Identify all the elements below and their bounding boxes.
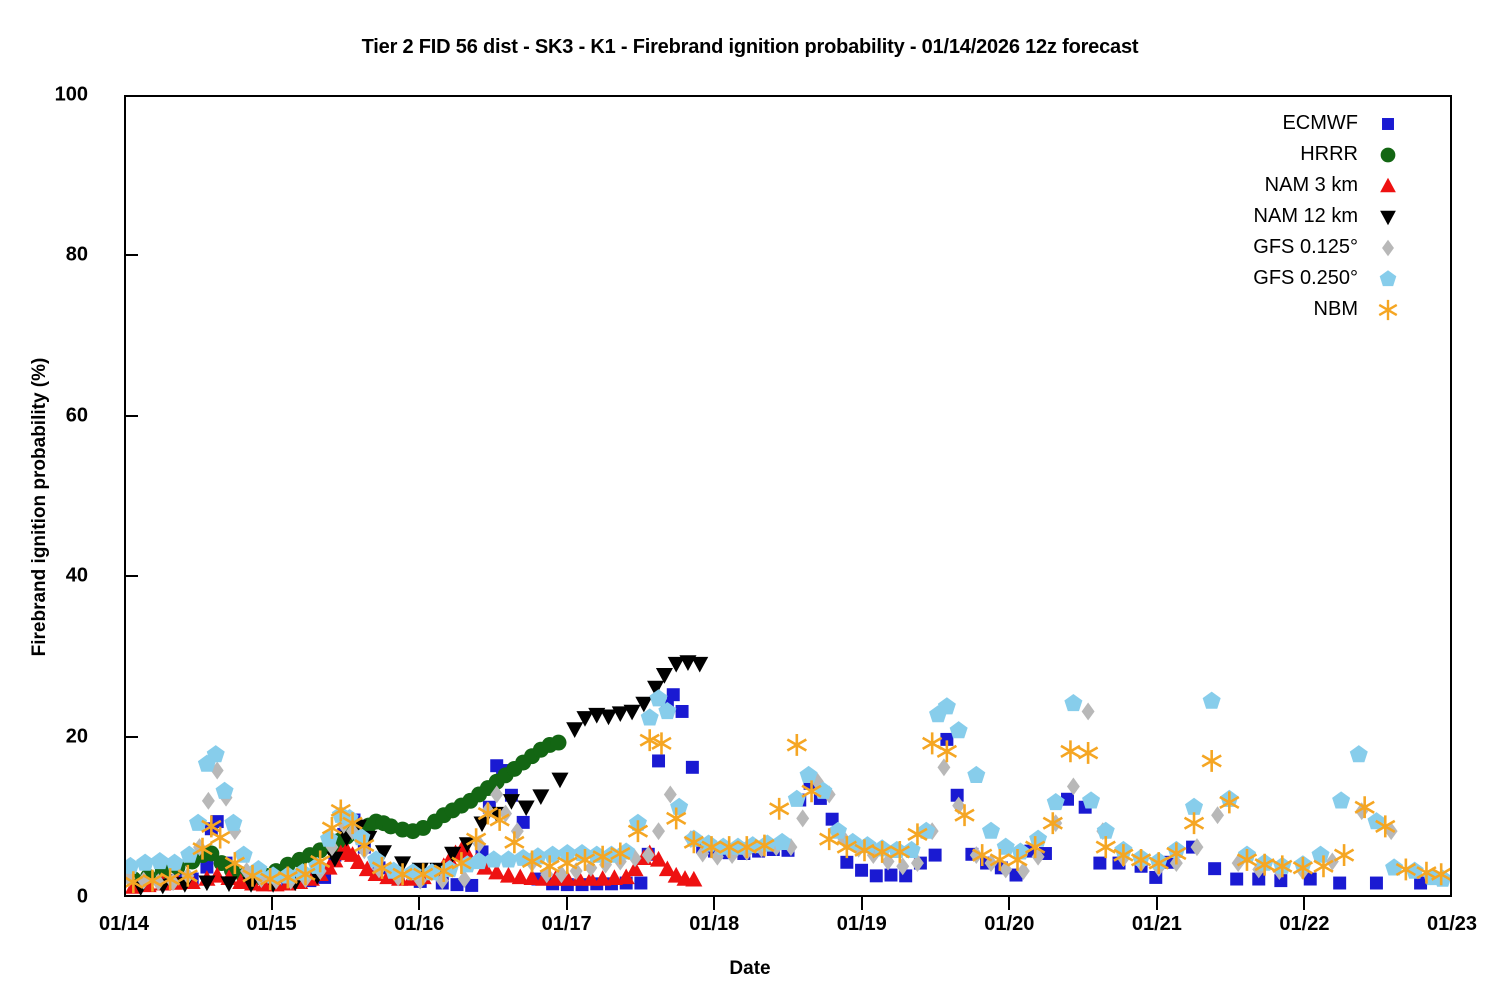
- data-point: [634, 877, 647, 890]
- data-point: [686, 761, 699, 774]
- y-tick-label: 0: [0, 886, 88, 909]
- x-axis-title: Date: [0, 958, 1500, 980]
- legend-marker-star-icon: [1366, 297, 1410, 323]
- data-point: [1211, 806, 1224, 824]
- data-point: [551, 735, 567, 751]
- x-tick-mark: [566, 897, 568, 910]
- data-point: [664, 785, 677, 803]
- data-point: [224, 814, 242, 831]
- data-point: [676, 705, 689, 718]
- legend-marker-diamond-icon: [1366, 235, 1410, 261]
- data-point: [216, 782, 234, 799]
- y-tick-label: 80: [0, 244, 88, 267]
- x-tick-label: 01/19: [802, 913, 922, 936]
- data-point: [544, 846, 562, 863]
- chart-page: Tier 2 FID 56 dist - SK3 - K1 - Firebran…: [0, 0, 1500, 1000]
- data-point: [1230, 873, 1243, 886]
- x-tick-mark: [713, 897, 715, 910]
- chart-legend: ECMWFHRRRNAM 3 kmNAM 12 kmGFS 0.125°GFS …: [1195, 108, 1410, 325]
- data-point: [800, 766, 818, 783]
- data-point: [1079, 742, 1098, 764]
- legend-label: GFS 0.250°: [1253, 267, 1366, 290]
- data-point: [1208, 862, 1221, 875]
- legend-item-nbm[interactable]: NBM: [1195, 294, 1410, 325]
- data-point: [1350, 745, 1368, 762]
- data-point: [770, 798, 789, 820]
- x-tick-label: 01/22: [1244, 913, 1364, 936]
- x-tick-mark: [1156, 897, 1158, 910]
- y-tick-label: 100: [0, 84, 88, 107]
- x-tick-mark: [418, 897, 420, 910]
- legend-item-ecmwf[interactable]: ECMWF: [1195, 108, 1410, 139]
- data-point: [1333, 877, 1346, 890]
- legend-marker-triangle-up-icon: [1366, 173, 1410, 199]
- data-point: [787, 734, 806, 756]
- legend-item-gfs-0-250[interactable]: GFS 0.250°: [1195, 263, 1410, 294]
- data-point: [982, 822, 1000, 839]
- y-tick-mark: [124, 415, 138, 417]
- data-point: [518, 801, 535, 817]
- data-point: [937, 758, 950, 776]
- legend-item-gfs-0-125[interactable]: GFS 0.125°: [1195, 232, 1410, 263]
- y-tick-mark: [124, 736, 138, 738]
- data-point: [929, 849, 942, 862]
- legend-item-hrrr[interactable]: HRRR: [1195, 139, 1410, 170]
- data-point: [532, 789, 549, 805]
- legend-label: GFS 0.125°: [1253, 236, 1366, 259]
- legend-label: ECMWF: [1282, 112, 1366, 135]
- x-tick-label: 01/23: [1392, 913, 1500, 936]
- x-tick-label: 01/18: [654, 913, 774, 936]
- data-point: [691, 657, 708, 673]
- data-point: [950, 721, 968, 738]
- data-point: [796, 809, 809, 827]
- legend-item-nam-12-km[interactable]: NAM 12 km: [1195, 201, 1410, 232]
- data-point: [1061, 740, 1080, 762]
- data-point: [652, 822, 665, 840]
- data-point: [207, 745, 225, 762]
- data-point: [1202, 750, 1221, 772]
- chart-title: Tier 2 FID 56 dist - SK3 - K1 - Firebran…: [0, 36, 1500, 59]
- data-point: [667, 688, 680, 701]
- x-tick-label: 01/21: [1097, 913, 1217, 936]
- legend-label: NBM: [1314, 298, 1366, 321]
- legend-label: NAM 3 km: [1265, 174, 1366, 197]
- data-point: [1370, 877, 1383, 890]
- data-point: [1185, 812, 1204, 834]
- data-point: [1082, 703, 1095, 721]
- data-point: [650, 689, 668, 706]
- legend-label: HRRR: [1300, 143, 1366, 166]
- data-point: [566, 722, 583, 738]
- x-tick-label: 01/20: [949, 913, 1069, 936]
- data-point: [624, 705, 641, 721]
- data-point: [884, 869, 897, 882]
- data-point: [670, 798, 688, 815]
- x-tick-mark: [1008, 897, 1010, 910]
- data-point: [202, 792, 215, 810]
- y-tick-mark: [124, 254, 138, 256]
- legend-item-nam-3-km[interactable]: NAM 3 km: [1195, 170, 1410, 201]
- y-axis-title: Firebrand ignition probability (%): [29, 297, 51, 717]
- data-point: [937, 740, 956, 762]
- data-point: [166, 854, 184, 871]
- data-point: [551, 773, 568, 789]
- data-point: [967, 766, 985, 783]
- data-point: [1082, 791, 1100, 808]
- data-point: [923, 732, 942, 754]
- legend-marker-circle-icon: [1366, 142, 1410, 168]
- data-point: [136, 854, 154, 871]
- data-point: [855, 864, 868, 877]
- data-point: [1332, 791, 1350, 808]
- data-point: [1064, 694, 1082, 711]
- x-tick-label: 01/17: [507, 913, 627, 936]
- legend-marker-triangle-down-icon: [1366, 204, 1410, 230]
- x-tick-label: 01/16: [359, 913, 479, 936]
- legend-marker-pentagon-icon: [1366, 266, 1410, 292]
- x-tick-mark: [271, 897, 273, 910]
- data-point: [1203, 692, 1221, 709]
- data-point: [1096, 836, 1115, 858]
- data-point: [938, 697, 956, 714]
- data-point: [1067, 778, 1080, 796]
- data-point: [1093, 857, 1106, 870]
- x-tick-label: 01/14: [64, 913, 184, 936]
- data-point: [773, 833, 791, 850]
- data-point: [1312, 846, 1330, 863]
- x-tick-mark: [1303, 897, 1305, 910]
- legend-marker-square-icon: [1366, 111, 1410, 137]
- data-point: [652, 754, 665, 767]
- y-tick-mark: [124, 575, 138, 577]
- y-tick-label: 20: [0, 725, 88, 748]
- legend-label: NAM 12 km: [1254, 205, 1366, 228]
- data-point: [870, 869, 883, 882]
- x-tick-label: 01/15: [212, 913, 332, 936]
- data-point: [600, 710, 617, 726]
- data-point: [788, 790, 806, 807]
- x-tick-mark: [861, 897, 863, 910]
